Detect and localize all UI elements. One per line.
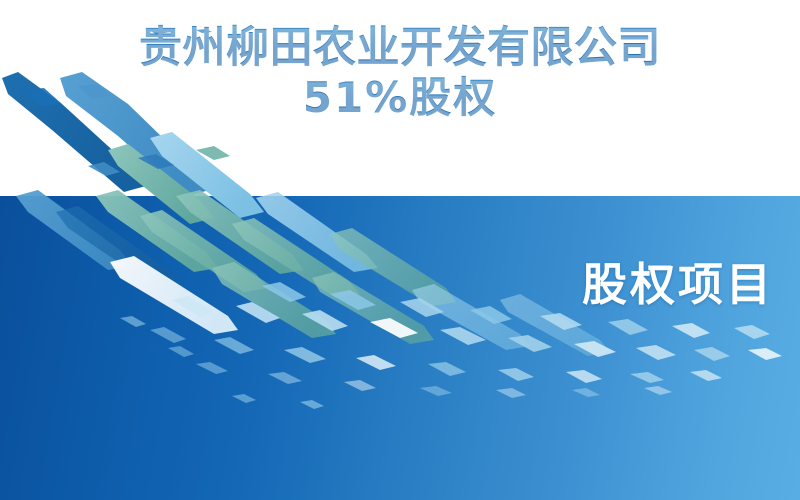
poster-canvas: 贵州柳田农业开发有限公司 51%股权 股权项目 bbox=[0, 0, 800, 500]
title-line-equity-share: 51%股权 bbox=[0, 74, 800, 123]
project-type-label: 股权项目 bbox=[582, 248, 774, 313]
title-line-company: 贵州柳田农业开发有限公司 bbox=[0, 24, 800, 74]
bottom-blue-gradient-panel bbox=[0, 196, 800, 500]
poster-title: 贵州柳田农业开发有限公司 51%股权 bbox=[0, 24, 800, 123]
